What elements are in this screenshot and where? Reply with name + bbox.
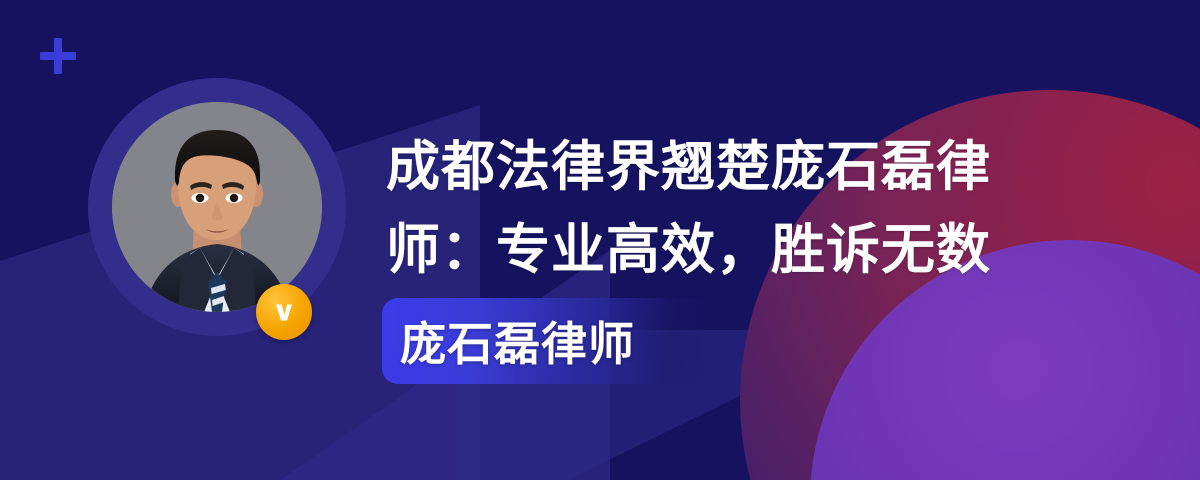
portrait-illustration	[112, 102, 322, 312]
check-v-icon	[269, 297, 299, 327]
lawyer-name-label: 庞石磊律师	[400, 308, 635, 374]
profile-banner: 成都法律界翘楚庞石磊律师：专业高效，胜诉无数 庞石磊律师	[0, 0, 1200, 480]
plus-icon	[38, 36, 78, 76]
verified-badge-icon	[256, 284, 312, 340]
avatar-photo	[112, 102, 322, 312]
avatar	[88, 78, 346, 336]
page-title: 成都法律界翘楚庞石磊律师：专业高效，胜诉无数	[386, 126, 1026, 292]
lawyer-name-pill: 庞石磊律师	[382, 298, 712, 384]
plus-icon-vertical-bar	[54, 38, 62, 74]
